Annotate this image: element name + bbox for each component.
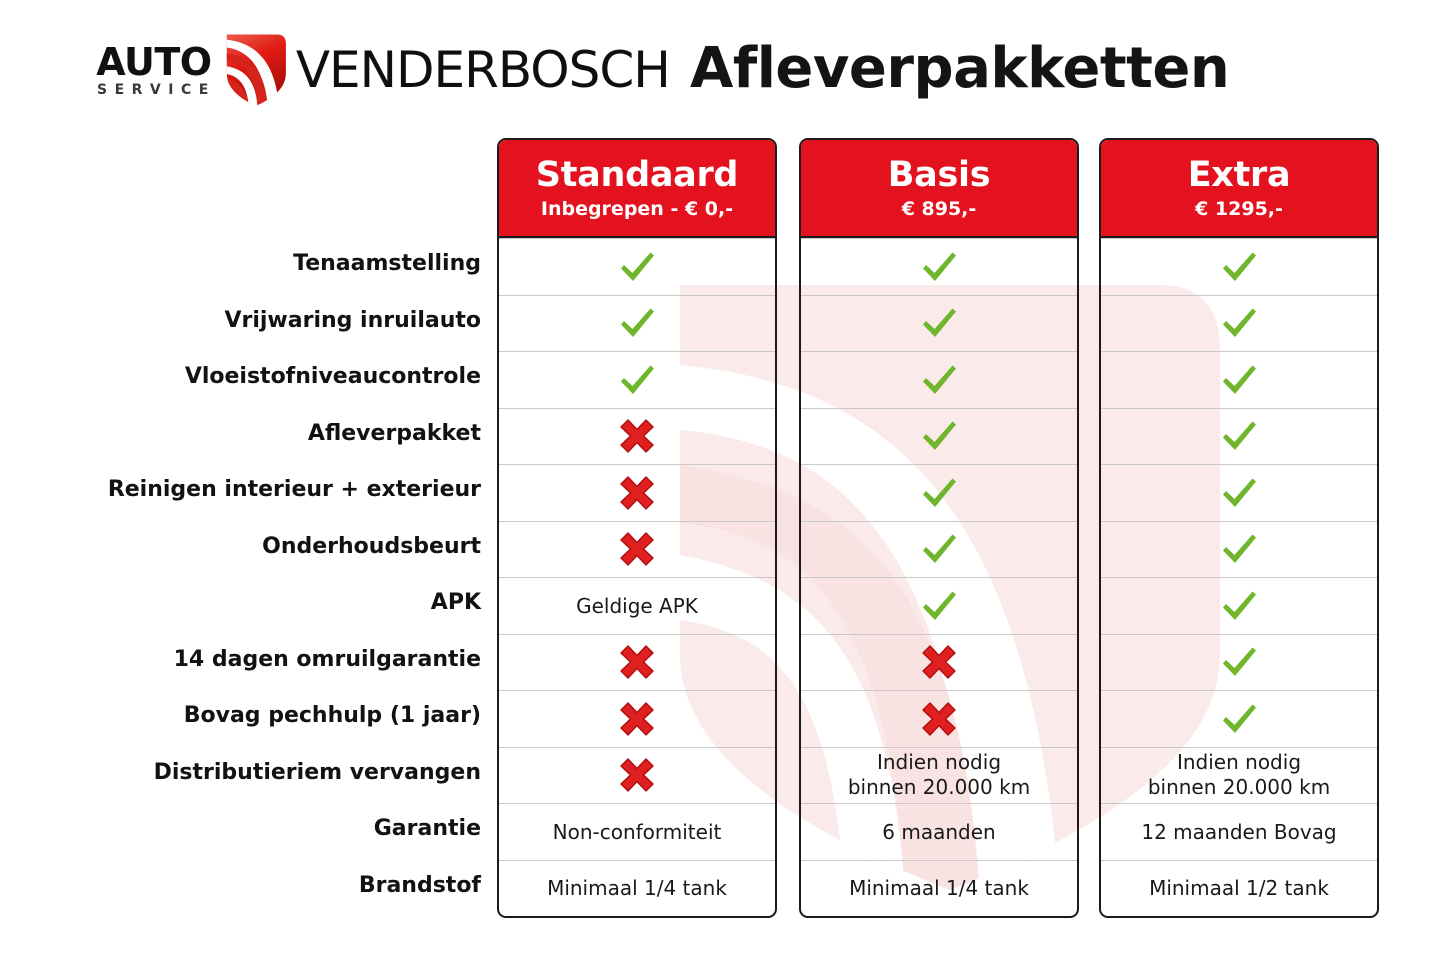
check-icon xyxy=(1219,360,1259,400)
table-cell xyxy=(499,295,775,352)
check-icon xyxy=(919,529,959,569)
table-cell: Indien nodig binnen 20.000 km xyxy=(1101,747,1377,804)
package-header-basis: Basis€ 895,- xyxy=(801,140,1077,238)
package-column-standaard[interactable]: StandaardInbegrepen - € 0,-Geldige APKNo… xyxy=(497,138,777,918)
cross-icon xyxy=(617,699,657,739)
cross-icon xyxy=(617,473,657,513)
feature-label: Tenaamstelling xyxy=(79,236,499,292)
check-icon xyxy=(919,473,959,513)
table-cell xyxy=(499,238,775,295)
feature-label-column: TenaamstellingVrijwaring inruilautoVloei… xyxy=(60,236,500,914)
afleverpakketten-page: AUTO SERVICE xyxy=(0,0,1440,960)
package-name: Extra xyxy=(1188,155,1291,195)
cell-text: Minimaal 1/4 tank xyxy=(849,876,1029,900)
feature-label: APK xyxy=(79,575,499,631)
check-icon xyxy=(1219,642,1259,682)
table-cell xyxy=(1101,577,1377,634)
table-cell xyxy=(1101,521,1377,578)
table-cell xyxy=(801,351,1077,408)
package-price: Inbegrepen - € 0,- xyxy=(541,196,733,222)
cell-text: Geldige APK xyxy=(576,594,698,618)
feature-label: Vrijwaring inruilauto xyxy=(79,293,499,349)
check-icon xyxy=(1219,303,1259,343)
check-icon xyxy=(1219,529,1259,569)
table-cell: Geldige APK xyxy=(499,577,775,634)
table-cell xyxy=(801,464,1077,521)
table-cell: Non-conformiteit xyxy=(499,803,775,860)
check-icon xyxy=(919,360,959,400)
table-cell xyxy=(499,521,775,578)
cell-text: Non-conformiteit xyxy=(553,820,722,844)
cross-icon xyxy=(617,642,657,682)
feature-label: Reinigen interieur + exterieur xyxy=(79,462,499,518)
table-cell xyxy=(1101,690,1377,747)
table-cell: 12 maanden Bovag xyxy=(1101,803,1377,860)
table-cell xyxy=(499,351,775,408)
check-icon xyxy=(919,586,959,626)
table-cell xyxy=(499,690,775,747)
logo-auto-text: AUTO xyxy=(96,43,211,81)
package-name: Basis xyxy=(888,155,990,195)
check-icon xyxy=(1219,586,1259,626)
check-icon xyxy=(1219,416,1259,456)
table-cell xyxy=(801,634,1077,691)
table-cell xyxy=(1101,464,1377,521)
package-header-extra: Extra€ 1295,- xyxy=(1101,140,1377,238)
table-cell xyxy=(499,464,775,521)
cell-text: 6 maanden xyxy=(882,820,995,844)
cross-icon xyxy=(617,416,657,456)
table-cell xyxy=(499,634,775,691)
check-icon xyxy=(919,416,959,456)
cross-icon xyxy=(617,755,657,795)
table-cell xyxy=(1101,408,1377,465)
logo-autoservice-wordmark: AUTO SERVICE xyxy=(92,43,216,98)
table-cell: 6 maanden xyxy=(801,803,1077,860)
package-column-basis[interactable]: Basis€ 895,-Indien nodig binnen 20.000 k… xyxy=(799,138,1079,918)
table-cell xyxy=(801,577,1077,634)
cross-icon xyxy=(919,642,959,682)
check-icon xyxy=(617,247,657,287)
table-cell: Minimaal 1/2 tank xyxy=(1101,860,1377,917)
package-name: Standaard xyxy=(536,155,738,195)
check-icon xyxy=(617,303,657,343)
table-cell xyxy=(499,408,775,465)
package-header-standaard: StandaardInbegrepen - € 0,- xyxy=(499,140,775,238)
table-cell xyxy=(1101,634,1377,691)
cell-text: Minimaal 1/2 tank xyxy=(1149,876,1329,900)
table-cell: Minimaal 1/4 tank xyxy=(499,860,775,917)
package-column-extra[interactable]: Extra€ 1295,-Indien nodig binnen 20.000 … xyxy=(1099,138,1379,918)
check-icon xyxy=(1219,247,1259,287)
table-cell xyxy=(801,295,1077,352)
feature-label: Onderhoudsbeurt xyxy=(79,519,499,575)
venderbosch-shield-icon xyxy=(212,25,298,111)
logo-venderbosch-text: VENDERBOSCH xyxy=(296,44,670,96)
table-cell xyxy=(801,521,1077,578)
check-icon xyxy=(1219,699,1259,739)
cell-text: 12 maanden Bovag xyxy=(1141,820,1336,844)
table-cell xyxy=(1101,295,1377,352)
logo-service-text: SERVICE xyxy=(97,82,216,98)
package-price: € 1295,- xyxy=(1195,196,1283,222)
check-icon xyxy=(1219,473,1259,513)
feature-label: Bovag pechhulp (1 jaar) xyxy=(79,688,499,744)
check-icon xyxy=(617,360,657,400)
feature-label: Garantie xyxy=(79,801,499,857)
package-price: € 895,- xyxy=(902,196,977,222)
table-cell xyxy=(801,238,1077,295)
brand-logo: AUTO SERVICE xyxy=(92,30,670,110)
table-cell: Indien nodig binnen 20.000 km xyxy=(801,747,1077,804)
feature-label: Vloeistofniveaucontrole xyxy=(79,349,499,405)
page-header: AUTO SERVICE xyxy=(0,0,1440,130)
cross-icon xyxy=(617,529,657,569)
table-cell: Minimaal 1/4 tank xyxy=(801,860,1077,917)
feature-label: Afleverpakket xyxy=(79,406,499,462)
table-cell xyxy=(801,408,1077,465)
cross-icon xyxy=(919,699,959,739)
package-comparison-table: TenaamstellingVrijwaring inruilautoVloei… xyxy=(0,0,1440,960)
table-cell xyxy=(499,747,775,804)
table-cell xyxy=(801,690,1077,747)
feature-label: Brandstof xyxy=(79,858,499,914)
table-cell xyxy=(1101,238,1377,295)
cell-text: Minimaal 1/4 tank xyxy=(547,876,727,900)
cell-text: Indien nodig binnen 20.000 km xyxy=(848,750,1030,800)
table-cell xyxy=(1101,351,1377,408)
cell-text: Indien nodig binnen 20.000 km xyxy=(1148,750,1330,800)
page-title: Afleverpakketten xyxy=(690,36,1229,101)
check-icon xyxy=(919,247,959,287)
feature-label: 14 dagen omruilgarantie xyxy=(79,632,499,688)
feature-label: Distributieriem vervangen xyxy=(79,745,499,801)
check-icon xyxy=(919,303,959,343)
